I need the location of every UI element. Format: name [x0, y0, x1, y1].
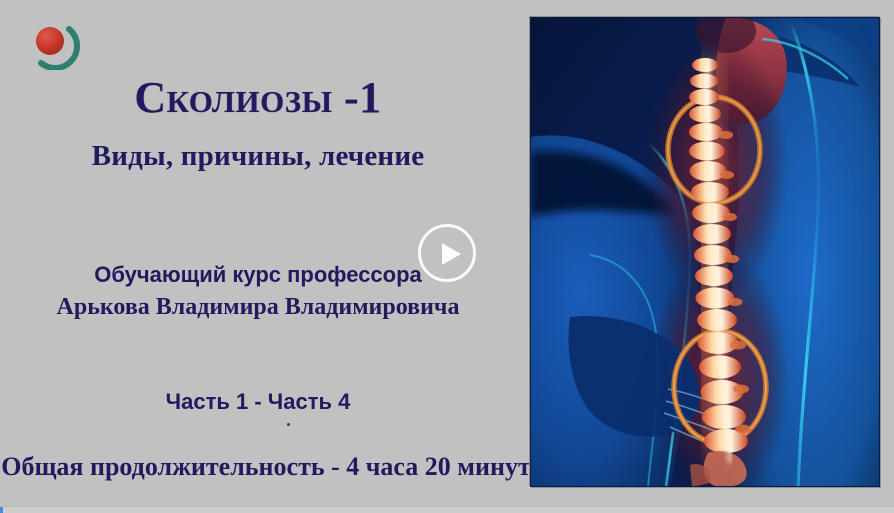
slide-subtitle: Виды, причины, лечение [0, 140, 516, 173]
presentation-slide: Сколиозы -1 Виды, причины, лечение Обуча… [0, 0, 894, 506]
medical-logo [29, 22, 81, 70]
play-button[interactable] [418, 224, 476, 282]
play-icon [442, 243, 461, 265]
video-player-screen: Сколиозы -1 Виды, причины, лечение Обуча… [0, 0, 894, 513]
slide-title: Сколиозы -1 [0, 72, 516, 123]
bottom-scrollbar-thumb[interactable] [0, 507, 3, 513]
spine-anatomy-illustration [530, 17, 880, 487]
bottom-scrollbar-track[interactable] [0, 506, 894, 513]
decorative-dot [287, 423, 290, 426]
logo-circle [36, 27, 64, 55]
course-total-duration: Общая продолжительность - 4 часа 20 мину… [0, 452, 532, 482]
course-parts-range: Часть 1 - Часть 4 [0, 389, 516, 415]
course-author-line-2: Арькова Владимира Владимировича [0, 294, 516, 321]
